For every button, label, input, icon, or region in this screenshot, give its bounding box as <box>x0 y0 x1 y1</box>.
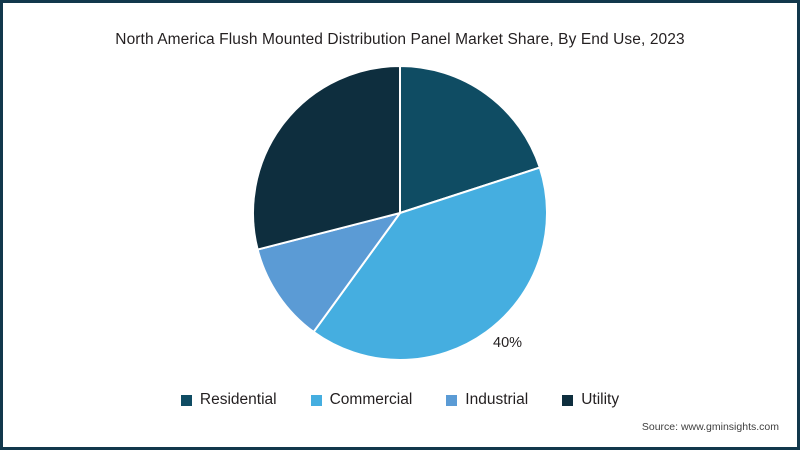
legend-item-utility[interactable]: Utility <box>562 391 619 409</box>
chart-container: North America Flush Mounted Distribution… <box>0 0 800 450</box>
page-title: North America Flush Mounted Distribution… <box>3 31 797 49</box>
legend-swatch-icon <box>181 395 192 406</box>
legend-item-commercial[interactable]: Commercial <box>311 391 413 409</box>
legend-swatch-icon <box>311 395 322 406</box>
legend-item-label: Commercial <box>330 391 413 409</box>
pie-chart-plot-area <box>3 63 797 373</box>
chart-legend: ResidentialCommercialIndustrialUtility <box>3 391 797 409</box>
legend-item-label: Residential <box>200 391 277 409</box>
legend-swatch-icon <box>446 395 457 406</box>
pie-slice-group <box>253 66 547 360</box>
legend-item-industrial[interactable]: Industrial <box>446 391 528 409</box>
data-label-commercial: 40% <box>493 335 522 351</box>
source-attribution: Source: www.gminsights.com <box>642 421 779 433</box>
legend-swatch-icon <box>562 395 573 406</box>
pie-chart-svg <box>250 63 550 363</box>
legend-item-residential[interactable]: Residential <box>181 391 277 409</box>
legend-item-label: Industrial <box>465 391 528 409</box>
legend-item-label: Utility <box>581 391 619 409</box>
